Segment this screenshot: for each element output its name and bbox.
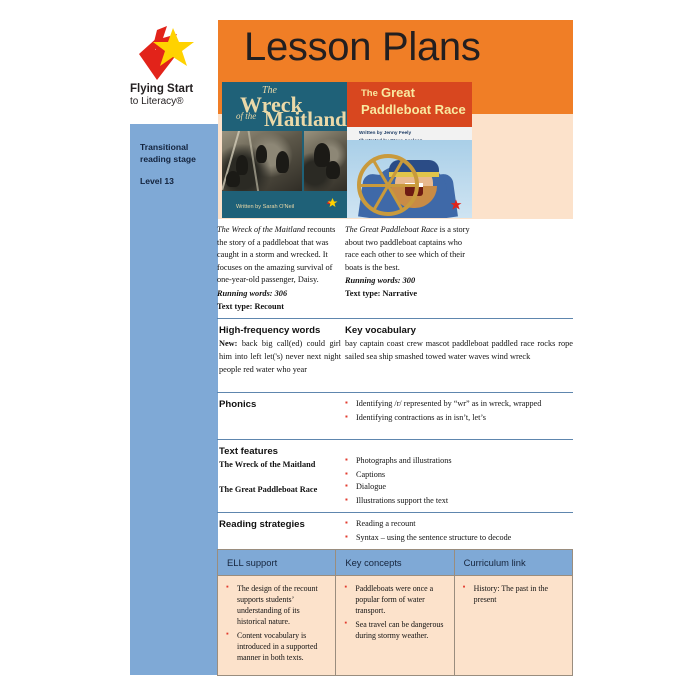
page-title: Lesson Plans [244,25,481,70]
list-item: Dialogue [345,481,573,493]
list-item: Syntax – using the sentence structure to… [345,532,573,544]
high-frequency-heading: High-frequency words [219,325,320,336]
book-cover-great-paddleboat-race: The Great Paddleboat Race Written by Jen… [347,82,472,218]
publisher-star-icon [450,199,462,210]
book-1-title-italic: The Wreck of the Maitland [217,225,305,234]
book-1-text-type: Text type: Recount [217,301,345,314]
text-features-group-1-list: Photographs and illustrations Captions [345,455,573,484]
text-features-heading: Text features [219,446,278,457]
column-body: History: The past in the present [455,576,572,675]
reading-strategies-heading: Reading strategies [219,519,305,530]
list-item: Identifying /r/ represented by “wr” as i… [345,398,573,410]
book-2-text-type: Text type: Narrative [345,288,473,301]
reading-strategies-list: Reading a recount Syntax – using the sen… [345,518,573,547]
level-label: Level 13 [140,176,174,186]
logo-wordmark: Flying Start to Literacy® [130,83,206,108]
reading-stage-label: Transitional reading stage [140,142,212,166]
list-item: Sea travel can be dangerous during storm… [344,619,446,641]
new-label: New: [219,339,237,348]
table-column-key-concepts: Key concepts Paddleboats were once a pop… [336,550,454,675]
high-frequency-words: New: back big call(ed) could girl him in… [219,338,341,377]
cover-illustration [347,140,472,218]
book-2-running-words: Running words: 300 [345,275,473,288]
text-features-group-2-label: The Great Paddleboat Race [219,485,317,494]
book-cover-wreck-of-the-maitland: The Wreck of the Maitland Written by Sar… [222,82,347,218]
support-table: ELL support The design of the recount su… [217,549,573,676]
star-swoosh-logo-icon [137,24,199,82]
cover-publisher-badge [322,195,341,214]
phonics-list: Identifying /r/ represented by “wr” as i… [345,398,573,427]
lesson-plan-page: Flying Start to Literacy® Transitional r… [0,0,700,700]
list-item: Identifying contractions as in isn’t, le… [345,412,573,424]
key-vocabulary-heading: Key vocabulary [345,325,416,336]
cover-of-the-word: of the [236,111,256,121]
list-item: Paddleboats were once a popular form of … [344,583,446,616]
high-frequency-word-list: back big call(ed) could girl him into le… [219,339,341,374]
column-header: Key concepts [336,550,453,576]
cover-title-line-2: Paddleboat Race [361,102,466,117]
section-divider [217,512,573,513]
list-item: Content vocabulary is introduced in a su… [226,630,328,663]
book-2-title-italic: The Great Paddleboat Race [345,225,438,234]
ships-wheel-icon [357,154,419,216]
phonics-heading: Phonics [219,399,256,410]
text-features-group-2-list: Dialogue Illustrations support the text [345,481,573,510]
brand-logo: Flying Start to Literacy® [118,20,218,120]
list-item: History: The past in the present [463,583,565,605]
key-vocabulary-word-list: bay captain coast crew mascot paddleboat… [345,338,573,364]
table-column-curriculum-link: Curriculum link History: The past in the… [455,550,572,675]
cover-title-word-great: Great [381,85,415,100]
cover-title-line-2: Maitland [264,107,347,132]
list-item: The design of the recount supports stude… [226,583,328,627]
logo-line-1: Flying Start [130,83,193,95]
column-body: Paddleboats were once a popular form of … [336,576,453,675]
section-divider [217,439,573,440]
column-header: Curriculum link [455,550,572,576]
list-item: Captions [345,469,573,481]
book-1-description: The Wreck of the Maitland recounts the s… [217,224,345,313]
list-item: Illustrations support the text [345,495,573,507]
cover-author-credit: Written by Sarah O'Neil [236,204,294,210]
cover-photo-left [222,131,302,191]
cover-photo-right [304,131,347,191]
list-item: Reading a recount [345,518,573,530]
logo-line-2: to Literacy® [130,96,184,107]
column-header: ELL support [218,550,335,576]
column-body: The design of the recount supports stude… [218,576,335,675]
cover-writer-credit: Written by Jenny Feely [359,130,423,138]
level-sidebar: Transitional reading stage Level 13 [130,124,218,675]
book-1-running-words: Running words: 306 [217,288,345,301]
list-item: Photographs and illustrations [345,455,573,467]
book-2-description: The Great Paddleboat Race is a story abo… [345,224,473,301]
page-header: Lesson Plans [218,20,573,78]
text-features-group-1-label: The Wreck of the Maitland [219,460,315,469]
section-divider [217,318,573,319]
cover-the-word: The [361,88,378,99]
section-divider [217,392,573,393]
table-column-ell-support: ELL support The design of the recount su… [218,550,336,675]
